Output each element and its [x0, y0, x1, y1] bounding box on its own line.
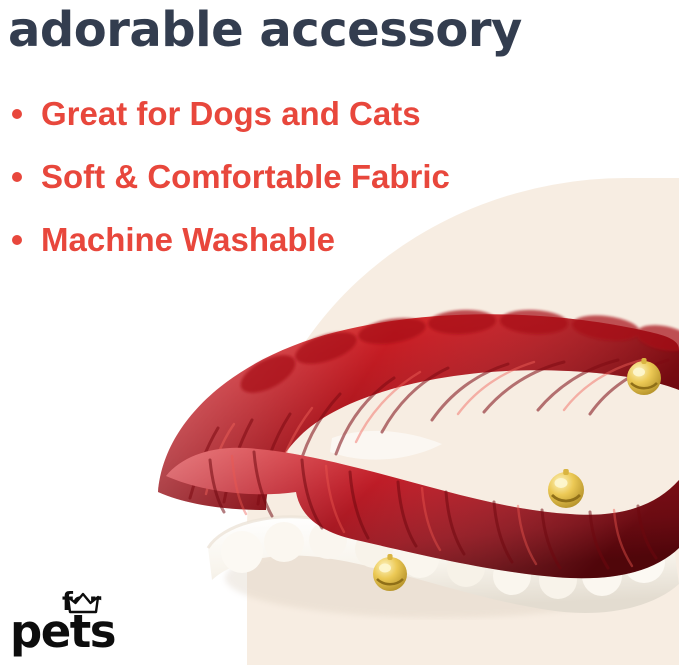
bullet-dot-icon: [12, 109, 22, 119]
brand-logo: for pets: [6, 589, 126, 651]
list-item: Great for Dogs and Cats: [12, 82, 450, 145]
feature-list: Great for Dogs and Cats Soft & Comfortab…: [12, 82, 450, 271]
feature-label: Machine Washable: [41, 222, 335, 258]
bullet-dot-icon: [12, 235, 22, 245]
feature-label: Soft & Comfortable Fabric: [41, 159, 450, 195]
product-feature-image: adorable accessory Great for Dogs and Ca…: [0, 0, 679, 665]
list-item: Soft & Comfortable Fabric: [12, 145, 450, 208]
feature-label: Great for Dogs and Cats: [41, 96, 421, 132]
bullet-dot-icon: [12, 172, 22, 182]
list-item: Machine Washable: [12, 208, 450, 271]
page-title: adorable accessory: [8, 2, 522, 58]
logo-text-pets: pets: [10, 609, 115, 654]
